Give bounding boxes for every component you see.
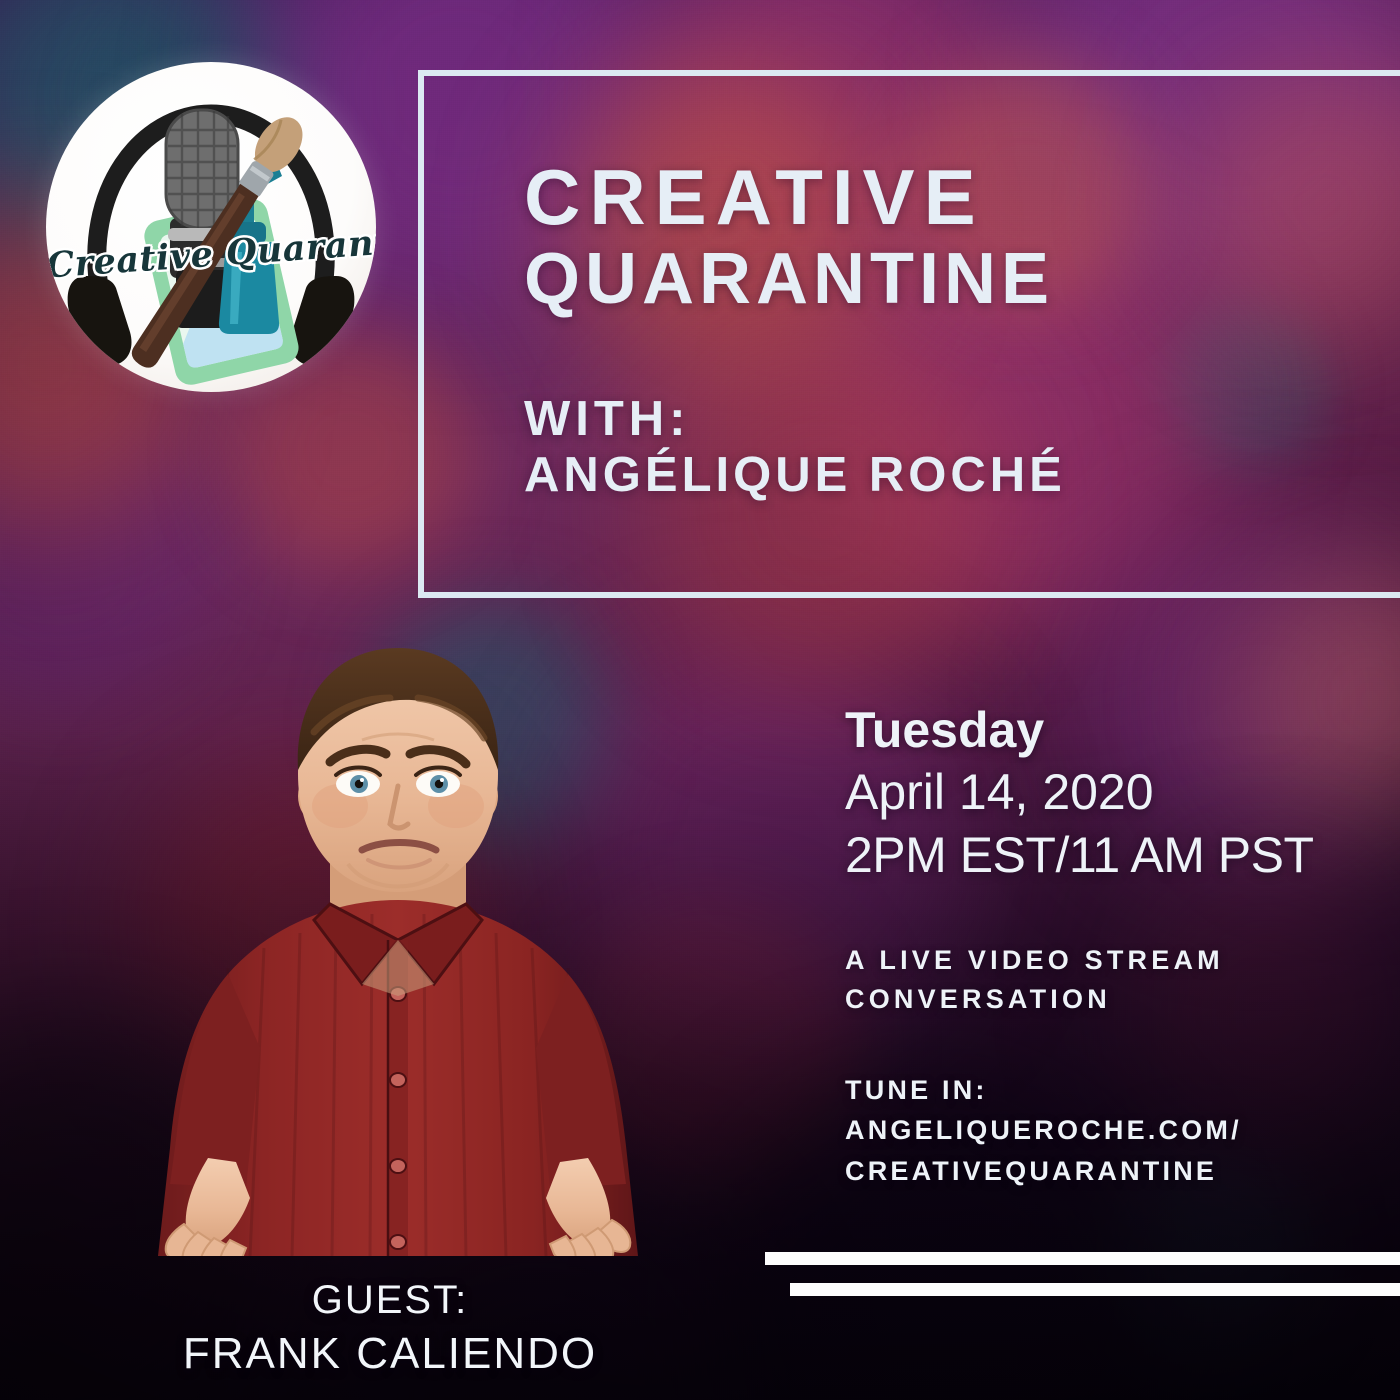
tune-in-url-line1[interactable]: ANGELIQUEROCHE.COM/: [845, 1110, 1385, 1151]
guest-name: FRANK CALIENDO: [60, 1325, 720, 1382]
event-time: 2PM EST/11 AM PST: [845, 824, 1385, 887]
tune-in-url-line2[interactable]: CREATIVEQUARANTINE: [845, 1151, 1385, 1192]
title-frame: CREATIVE QUARANTINE WITH: ANGÉLIQUE ROCH…: [418, 70, 1400, 598]
tune-in-label: TUNE IN:: [845, 1070, 1385, 1111]
creative-quarantine-logo: Creative Quarantine: [46, 62, 376, 392]
event-format-line2: CONVERSATION: [845, 980, 1385, 1019]
promo-poster: Creative Quarantine CREATIVE QUARANTINE …: [0, 0, 1400, 1400]
title-block: CREATIVE QUARANTINE WITH: ANGÉLIQUE ROCH…: [524, 158, 1390, 504]
guest-caption: GUEST: FRANK CALIENDO: [60, 1276, 720, 1382]
title-line-quarantine: QUARANTINE: [524, 236, 1390, 324]
event-format: A LIVE VIDEO STREAM CONVERSATION: [845, 941, 1385, 1020]
decorative-rule-top: [765, 1252, 1400, 1265]
guest-portrait-illustration: [118, 628, 678, 1256]
title-line-creative: CREATIVE: [524, 158, 1390, 236]
event-date: April 14, 2020: [845, 761, 1385, 824]
tune-in-block: TUNE IN: ANGELIQUEROCHE.COM/ CREATIVEQUA…: [845, 1070, 1385, 1192]
headphone-earcup-right-icon: [291, 276, 355, 370]
event-day: Tuesday: [845, 700, 1385, 761]
decorative-rule-bottom: [790, 1283, 1400, 1296]
event-format-line1: A LIVE VIDEO STREAM: [845, 941, 1385, 980]
headphone-earcup-left-icon: [68, 276, 132, 370]
host-name: ANGÉLIQUE ROCHÉ: [524, 447, 1390, 504]
guest-photo: [118, 628, 678, 1256]
with-label: WITH:: [524, 392, 1390, 447]
event-details: Tuesday April 14, 2020 2PM EST/11 AM PST…: [845, 700, 1385, 1191]
guest-label: GUEST:: [60, 1276, 720, 1325]
